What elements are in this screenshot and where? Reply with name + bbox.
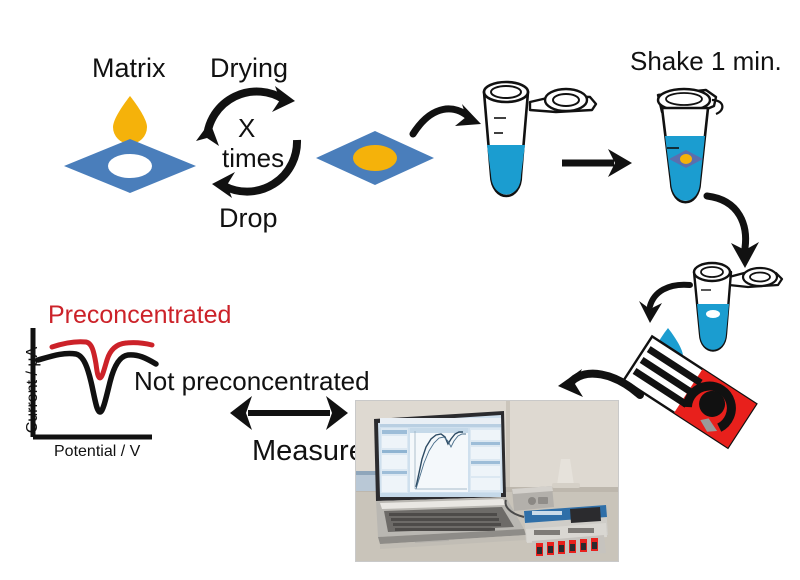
substrate-loaded-icon (316, 131, 434, 185)
arrow-shake-to-eluted (707, 196, 759, 268)
tube-eluted-icon (694, 263, 782, 351)
cycle-arrow-tail (196, 122, 219, 146)
chart-ylabel: Current / µA (25, 335, 41, 445)
tube-shake-icon (658, 89, 722, 202)
cycle-arrow-drop (212, 140, 297, 198)
measure-double-arrow (230, 396, 348, 430)
matrix-droplet-icon (113, 96, 147, 144)
tube-sample-icon (484, 82, 596, 196)
voltammogram-chart (33, 328, 156, 437)
screen-printed-electrode-icon (624, 336, 756, 447)
diagram-vector-layer (0, 0, 800, 580)
cycle-arrow-drying (207, 86, 295, 136)
workflow-figure: Matrix Drying X times Drop Shake 1 min. … (0, 0, 800, 580)
substrate-open-icon (64, 139, 196, 193)
arrow-tube-to-shake (562, 149, 632, 177)
arrow-substrate-to-tube (413, 104, 481, 134)
chart-xlabel: Potential / V (54, 444, 140, 460)
arrow-eluted-to-electrode (639, 285, 690, 323)
